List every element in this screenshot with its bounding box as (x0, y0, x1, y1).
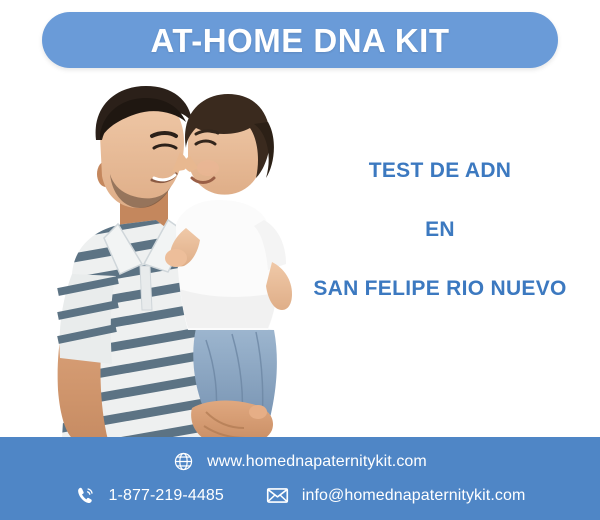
poster-root: AT-HOME DNA KIT (0, 0, 600, 520)
email-contact-item[interactable]: info@homednapaternitykit.com (266, 484, 526, 507)
header-banner: AT-HOME DNA KIT (42, 12, 558, 68)
page-title: AT-HOME DNA KIT (151, 24, 450, 57)
headline-line-1: TEST DE ADN (290, 160, 590, 181)
website-contact-item[interactable]: www.homednapaternitykit.com (173, 451, 427, 472)
envelope-icon (266, 484, 289, 507)
headline-line-2: EN (290, 219, 590, 240)
email-text: info@homednapaternitykit.com (302, 488, 526, 504)
headline-line-3: SAN FELIPE RIO NUEVO (290, 278, 590, 299)
website-text: www.homednapaternitykit.com (207, 454, 427, 470)
phone-contact-item[interactable]: 1-877-219-4485 (75, 485, 224, 506)
phone-text: 1-877-219-4485 (109, 488, 224, 504)
headline-block: TEST DE ADN EN SAN FELIPE RIO NUEVO (290, 160, 590, 299)
footer-website-row: www.homednapaternitykit.com (0, 451, 600, 472)
footer-contact-row: 1-877-219-4485 info@homednapaternitykit.… (0, 484, 600, 507)
globe-icon (173, 451, 194, 472)
father-and-child-illustration (0, 78, 330, 458)
hero-photo (0, 78, 330, 458)
phone-icon (75, 485, 96, 506)
footer-contact-bar: www.homednapaternitykit.com 1-877-219-44… (0, 437, 600, 520)
